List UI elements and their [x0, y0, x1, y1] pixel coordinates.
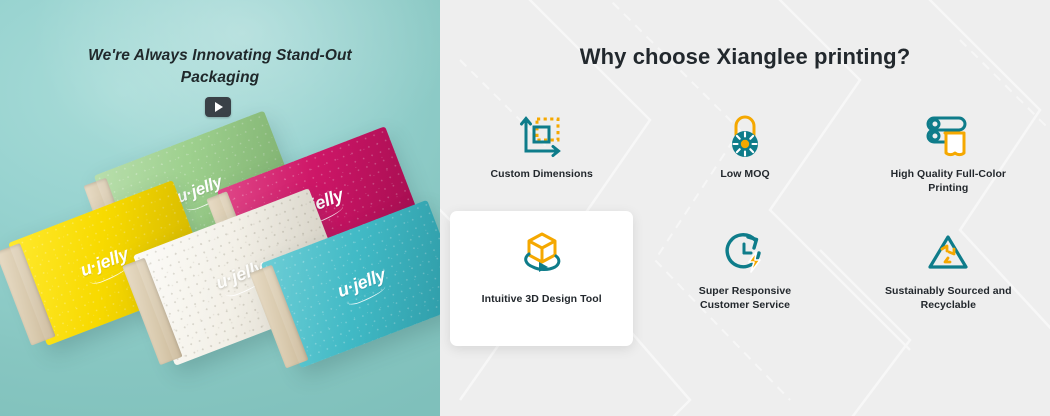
features-right-panel: Why choose Xianglee printing? Cust: [440, 0, 1050, 416]
packaging-boxes-artwork: u·jelly u·jelly u·jelly: [0, 150, 440, 416]
recycle-triangle-icon: [923, 225, 973, 281]
play-video-button[interactable]: [205, 97, 231, 117]
page-root: We're Always Innovating Stand-Out Packag…: [0, 0, 1050, 416]
page-title: Why choose Xianglee printing?: [440, 44, 1050, 70]
feature-low-moq[interactable]: Low MOQ: [643, 100, 846, 217]
feature-label: Super Responsive Customer Service: [675, 285, 815, 313]
clock-lightning-icon: [721, 225, 769, 281]
feature-customer-service[interactable]: Super Responsive Customer Service: [643, 217, 846, 334]
features-grid: Custom Dimensions: [440, 100, 1050, 334]
feature-label: Intuitive 3D Design Tool: [482, 293, 602, 307]
feature-custom-dimensions[interactable]: Custom Dimensions: [440, 100, 643, 217]
hero-left-panel: We're Always Innovating Stand-Out Packag…: [0, 0, 440, 416]
feature-label: High Quality Full-Color Printing: [878, 168, 1018, 196]
feature-label: Custom Dimensions: [490, 168, 592, 182]
feature-sustainably-sourced[interactable]: Sustainably Sourced and Recyclable: [847, 217, 1050, 334]
low-moq-lock-icon: [723, 108, 767, 164]
hero-headline: We're Always Innovating Stand-Out Packag…: [60, 45, 380, 90]
3d-cube-rotate-icon: [515, 225, 569, 281]
feature-label: Low MOQ: [720, 168, 769, 182]
feature-high-quality-printing[interactable]: High Quality Full-Color Printing: [847, 100, 1050, 217]
play-icon: [215, 102, 223, 112]
custom-dimensions-icon: [518, 108, 566, 164]
printing-press-icon: [923, 108, 973, 164]
feature-3d-design-tool[interactable]: Intuitive 3D Design Tool: [440, 217, 643, 334]
feature-label: Sustainably Sourced and Recyclable: [878, 285, 1018, 313]
